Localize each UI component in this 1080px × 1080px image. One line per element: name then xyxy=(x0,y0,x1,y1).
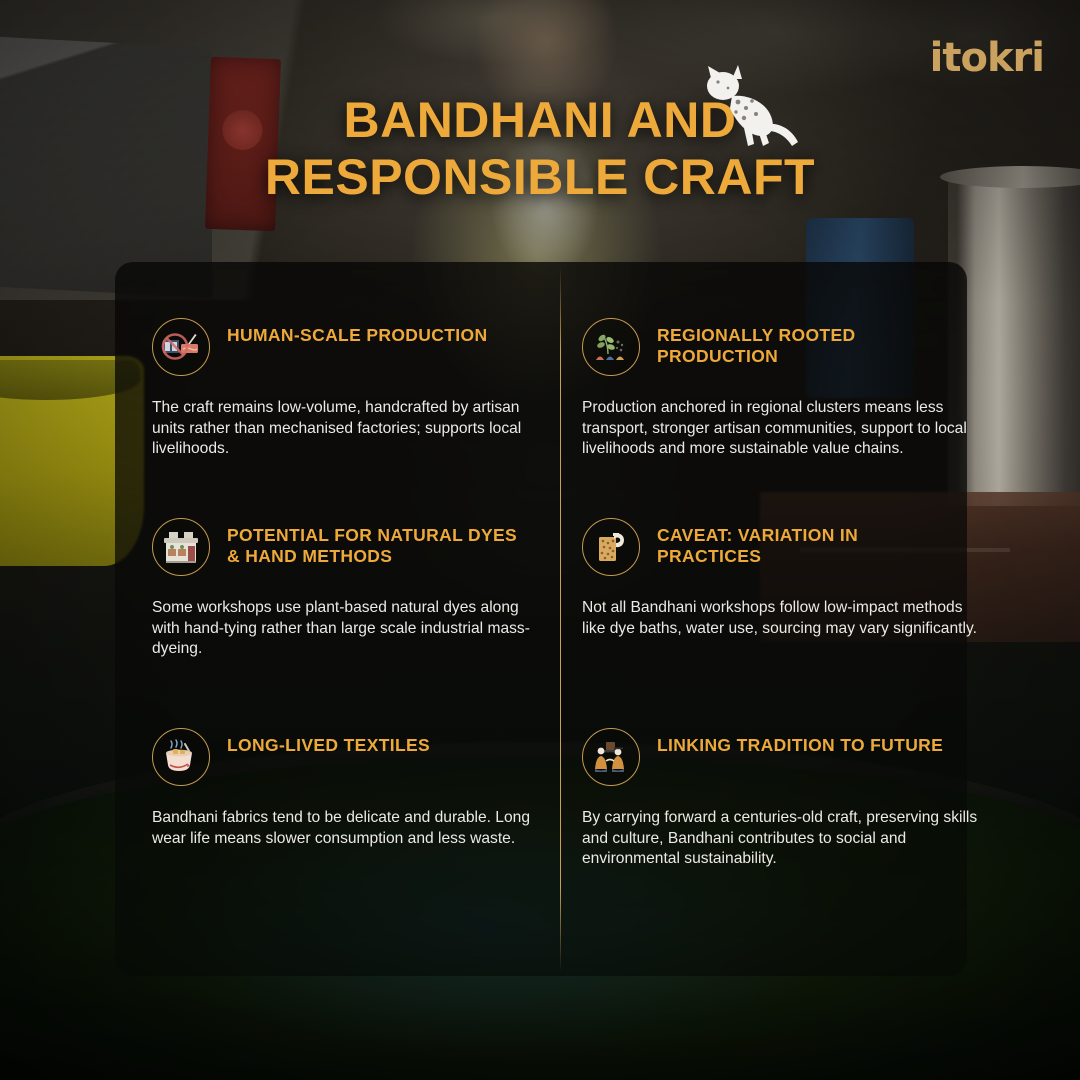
no-factory-icon xyxy=(152,318,210,376)
card-header: HUMAN-SCALE PRODUCTION xyxy=(152,318,544,376)
two-artisans-icon xyxy=(582,728,640,786)
card-heading: CAVEAT: VARIATION IN PRACTICES xyxy=(657,525,957,568)
card-body: Production anchored in regional clusters… xyxy=(582,398,982,460)
card-heading: HUMAN-SCALE PRODUCTION xyxy=(227,325,487,346)
card-body: Not all Bandhani workshops follow low-im… xyxy=(582,598,982,639)
cat-illustration-icon xyxy=(688,52,808,157)
card-body: By carrying forward a centuries-old craf… xyxy=(582,808,982,870)
card-body: Bandhani fabrics tend to be delicate and… xyxy=(152,808,540,849)
page-title: BANDHANI AND RESPONSIBLE CRAFT xyxy=(0,92,1080,206)
card-linking-tradition-to-future: LINKING TRADITION TO FUTURE By carrying … xyxy=(582,728,982,870)
card-heading: POTENTIAL FOR NATURAL DYES & HAND METHOD… xyxy=(227,525,527,568)
seedling-soil-icon xyxy=(582,318,640,376)
card-header: POTENTIAL FOR NATURAL DYES & HAND METHOD… xyxy=(152,518,544,576)
infographic-canvas: itokri BANDHANI AND RESPONSIBLE CRAFT xyxy=(0,0,1080,1080)
card-caveat-variation-in-practices: CAVEAT: VARIATION IN PRACTICES Not all B… xyxy=(582,518,982,639)
card-heading: REGIONALLY ROOTED PRODUCTION xyxy=(657,325,957,368)
itokri-logo[interactable]: itokri xyxy=(930,38,1044,78)
column-divider xyxy=(560,266,561,972)
card-header: LINKING TRADITION TO FUTURE xyxy=(582,728,982,786)
card-header: LONG-LIVED TEXTILES xyxy=(152,728,544,786)
title-block: BANDHANI AND RESPONSIBLE CRAFT xyxy=(0,92,1080,206)
card-natural-dyes-hand-methods: POTENTIAL FOR NATURAL DYES & HAND METHOD… xyxy=(152,518,544,660)
card-body: Some workshops use plant-based natural d… xyxy=(152,598,540,660)
card-heading: LINKING TRADITION TO FUTURE xyxy=(657,735,943,756)
card-regionally-rooted-production: REGIONALLY ROOTED PRODUCTION Production … xyxy=(582,318,982,460)
hand-holding-fabric-icon xyxy=(582,518,640,576)
card-human-scale-production: HUMAN-SCALE PRODUCTION The craft remains… xyxy=(152,318,544,460)
card-heading: LONG-LIVED TEXTILES xyxy=(227,735,430,756)
card-header: CAVEAT: VARIATION IN PRACTICES xyxy=(582,518,982,576)
steaming-dye-pot-icon xyxy=(152,728,210,786)
workshop-building-icon xyxy=(152,518,210,576)
card-long-lived-textiles: LONG-LIVED TEXTILES Bandhani fabrics ten… xyxy=(152,728,544,849)
title-line-1: BANDHANI AND xyxy=(343,92,736,148)
title-line-2: RESPONSIBLE CRAFT xyxy=(0,149,1080,206)
card-body: The craft remains low-volume, handcrafte… xyxy=(152,398,540,460)
card-header: REGIONALLY ROOTED PRODUCTION xyxy=(582,318,982,376)
